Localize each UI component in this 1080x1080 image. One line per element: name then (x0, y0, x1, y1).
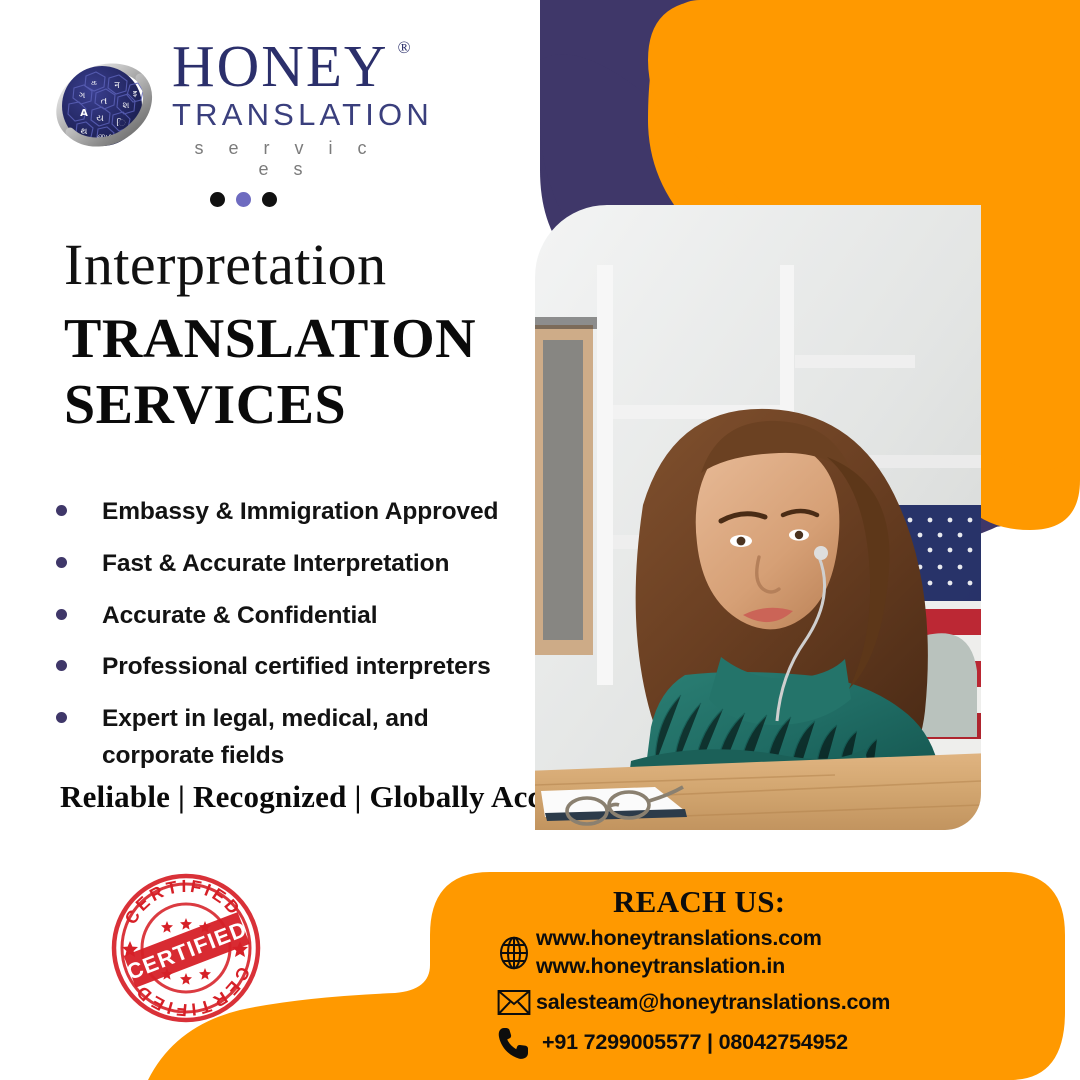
list-item: Fast & Accurate Interpretation (56, 546, 526, 583)
contact-details: www.honeytranslations.com www.honeytrans… (492, 925, 1052, 1069)
bullet-dot-icon (56, 660, 67, 671)
website-url-2[interactable]: www.honeytranslation.in (536, 953, 822, 981)
list-item-label: Accurate & Confidential (102, 598, 377, 635)
svg-text:A: A (80, 108, 88, 119)
globe-icon (492, 936, 536, 970)
list-item-label: Professional certified interpreters (102, 649, 491, 686)
list-item: Accurate & Confidential (56, 598, 526, 635)
brand-logo: க न इ ગ ત શ A ય િ થ மை HONEY ® (52, 48, 472, 168)
globe-languages-icon: க न इ ગ ત શ A ય િ થ மை (52, 54, 160, 162)
phone-numbers[interactable]: +91 7299005577 | 08042754952 (542, 1029, 848, 1057)
svg-text:ય: ય (96, 114, 104, 124)
svg-text:க: க (91, 78, 97, 88)
page-title: TRANSLATION SERVICES (64, 306, 534, 438)
svg-text:ગ: ગ (79, 91, 86, 101)
bullet-dot-icon (56, 609, 67, 620)
dot-2 (236, 192, 251, 207)
list-item: Professional certified interpreters (56, 649, 526, 686)
bullet-dot-icon (56, 557, 67, 568)
poster-canvas: க न इ ગ ત શ A ય િ થ மை HONEY ® (0, 0, 1080, 1080)
bullet-dot-icon (56, 712, 67, 723)
email-address[interactable]: salesteam@honeytranslations.com (536, 989, 890, 1017)
logo-honey-text: HONEY (172, 33, 388, 99)
contact-row-email[interactable]: salesteam@honeytranslations.com (492, 989, 1052, 1017)
list-item: Expert in legal, medical, and corporate … (56, 701, 526, 775)
list-item-label: Fast & Accurate Interpretation (102, 546, 449, 583)
phone-icon (492, 1026, 536, 1060)
tagline: Reliable | Recognized | Globally Accepte… (60, 779, 615, 815)
reach-us-heading: REACH US: (613, 884, 785, 920)
dot-1 (210, 192, 225, 207)
registered-trademark-icon: ® (398, 40, 411, 56)
contact-row-phone[interactable]: +91 7299005577 | 08042754952 (492, 1026, 1052, 1060)
dot-3 (262, 192, 277, 207)
certified-stamp-icon: CERTIFIED CERTIFIED CERTIFIED (107, 869, 265, 1027)
svg-text:ત: ત (101, 96, 108, 107)
list-item-label: Expert in legal, medical, and corporate … (102, 701, 452, 775)
decorative-dots (210, 192, 277, 207)
bullet-dot-icon (56, 505, 67, 516)
headline-line-1: TRANSLATION (64, 306, 534, 372)
headline-line-2: SERVICES (64, 372, 534, 438)
logo-wordmark-secondary: TRANSLATION (172, 97, 387, 133)
list-item-label: Embassy & Immigration Approved (102, 494, 498, 531)
website-url-1[interactable]: www.honeytranslations.com (536, 925, 822, 953)
list-item: Embassy & Immigration Approved (56, 494, 526, 531)
svg-text:શ: શ (123, 101, 130, 111)
envelope-icon (492, 989, 536, 1016)
logo-wordmark-tertiary: s e r v i c e s (172, 138, 393, 180)
interpreter-at-desk-photo (535, 205, 981, 830)
feature-list: Embassy & Immigration Approved Fast & Ac… (56, 494, 526, 790)
logo-wordmark-primary: HONEY ® (172, 38, 388, 94)
headline-kicker: Interpretation (64, 236, 387, 294)
contact-row-website[interactable]: www.honeytranslations.com www.honeytrans… (492, 925, 1052, 980)
svg-text:િ: િ (116, 118, 125, 129)
